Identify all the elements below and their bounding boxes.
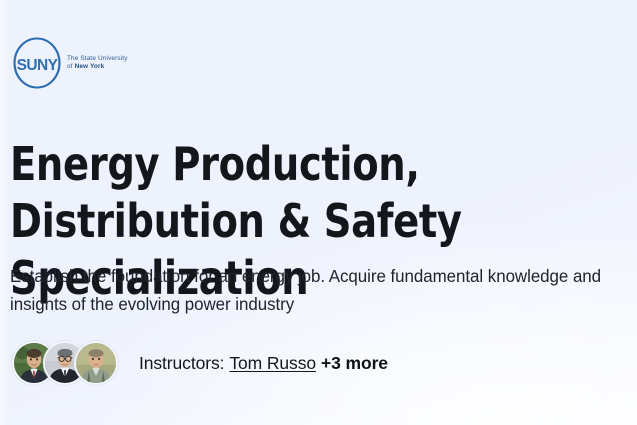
instructors-text: Instructors:Tom Russo+3 more: [139, 353, 388, 374]
instructor-avatar-stack[interactable]: [12, 341, 118, 385]
suny-tagline-line1: The State University: [67, 55, 128, 62]
course-description: Establish the foundation for an energy j…: [10, 263, 629, 319]
left-edge-gradient: [0, 0, 9, 425]
suny-tagline-newyork: New York: [75, 63, 105, 70]
instructors-more-link[interactable]: +3 more: [321, 353, 388, 373]
svg-text:SUNY: SUNY: [17, 57, 59, 74]
instructor-name-link[interactable]: Tom Russo: [229, 353, 316, 373]
instructor-avatar-3[interactable]: [74, 341, 118, 385]
suny-tagline-of: of: [67, 63, 75, 70]
suny-logo-icon: SUNY: [12, 36, 62, 90]
suny-wordmark-text: The State University of New York: [67, 55, 128, 71]
instructors-label: Instructors:: [139, 353, 224, 373]
suny-brand-lockup[interactable]: SUNY The State University of New York: [12, 36, 128, 90]
instructors-row: Instructors:Tom Russo+3 more: [12, 341, 388, 385]
course-hero-banner: SUNY The State University of New York En…: [0, 0, 637, 425]
